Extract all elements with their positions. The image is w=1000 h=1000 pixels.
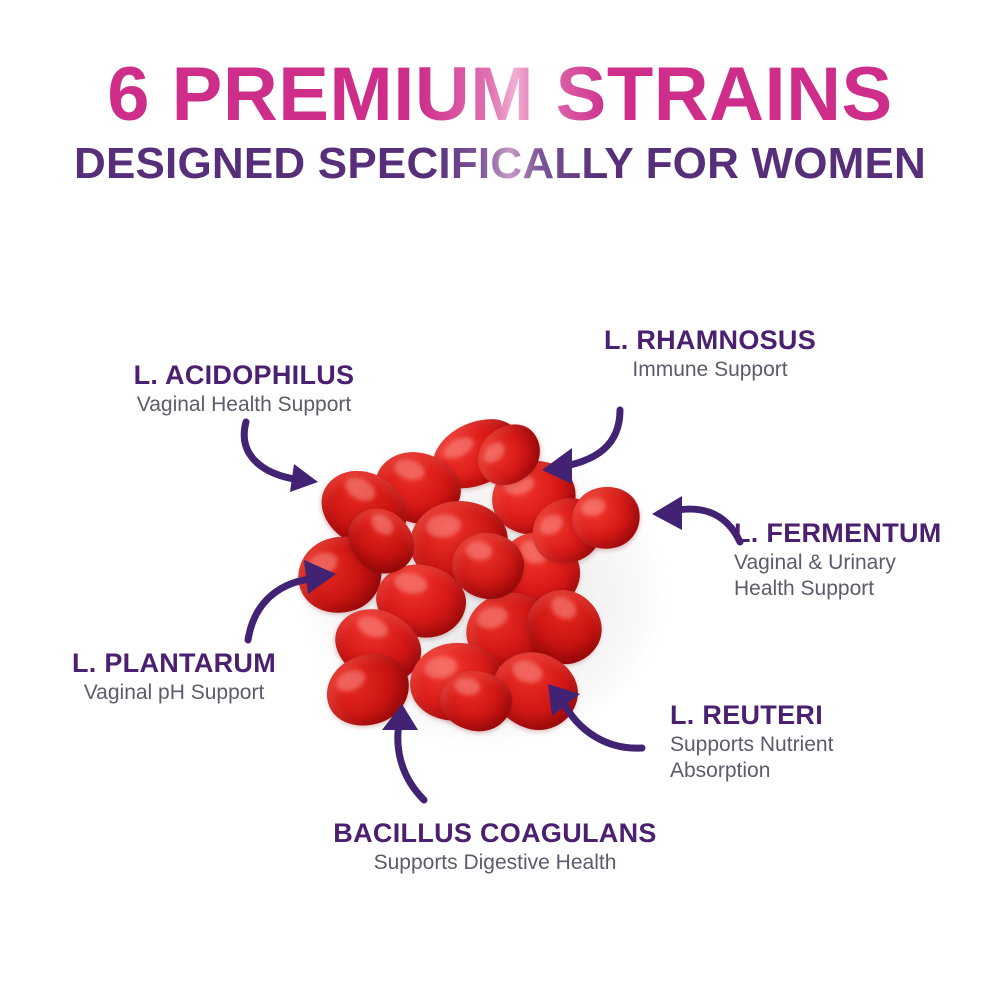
strain-benefit-fermentum-line1: Vaginal & Urinary — [734, 550, 996, 576]
strain-name-fermentum: L. FERMENTUM — [734, 518, 996, 548]
strain-benefit-coagulans: Supports Digestive Health — [255, 850, 735, 876]
strain-name-plantarum: L. PLANTARUM — [24, 648, 324, 678]
strain-name-reuteri: L. REUTERI — [670, 700, 940, 730]
strain-label-plantarum: L. PLANTARUM Vaginal pH Support — [24, 648, 324, 706]
strain-label-fermentum: L. FERMENTUM Vaginal & Urinary Health Su… — [734, 518, 996, 601]
strain-benefit-reuteri-line2: Absorption — [670, 758, 940, 784]
arrow-reuteri — [528, 676, 652, 762]
strain-benefit-reuteri-line1: Supports Nutrient — [670, 732, 940, 758]
infographic-canvas: 6 PREMIUM STRAINS DESIGNED SPECIFICALLY … — [0, 0, 1000, 1000]
arrow-coagulans — [372, 700, 450, 810]
strain-benefit-rhamnosus: Immune Support — [540, 357, 880, 383]
strain-label-rhamnosus: L. RHAMNOSUS Immune Support — [540, 325, 880, 383]
subheadline-container: DESIGNED SPECIFICALLY FOR WOMEN — [0, 142, 1000, 186]
strain-label-coagulans: BACILLUS COAGULANS Supports Digestive He… — [255, 818, 735, 876]
headline-container: 6 PREMIUM STRAINS — [0, 58, 1000, 132]
headline: 6 PREMIUM STRAINS — [0, 58, 1000, 132]
strain-benefit-plantarum: Vaginal pH Support — [24, 680, 324, 706]
strain-name-rhamnosus: L. RHAMNOSUS — [540, 325, 880, 355]
arrow-acidophilus — [232, 412, 342, 498]
strain-label-reuteri: L. REUTERI Supports Nutrient Absorption — [670, 700, 940, 783]
strain-benefit-acidophilus: Vaginal Health Support — [64, 392, 424, 418]
arrow-plantarum — [238, 552, 350, 648]
strain-name-coagulans: BACILLUS COAGULANS — [255, 818, 735, 848]
strain-label-acidophilus: L. ACIDOPHILUS Vaginal Health Support — [64, 360, 424, 418]
strain-name-acidophilus: L. ACIDOPHILUS — [64, 360, 424, 390]
arrow-rhamnosus — [524, 400, 632, 492]
subheadline: DESIGNED SPECIFICALLY FOR WOMEN — [0, 142, 1000, 186]
strain-benefit-fermentum-line2: Health Support — [734, 576, 996, 602]
